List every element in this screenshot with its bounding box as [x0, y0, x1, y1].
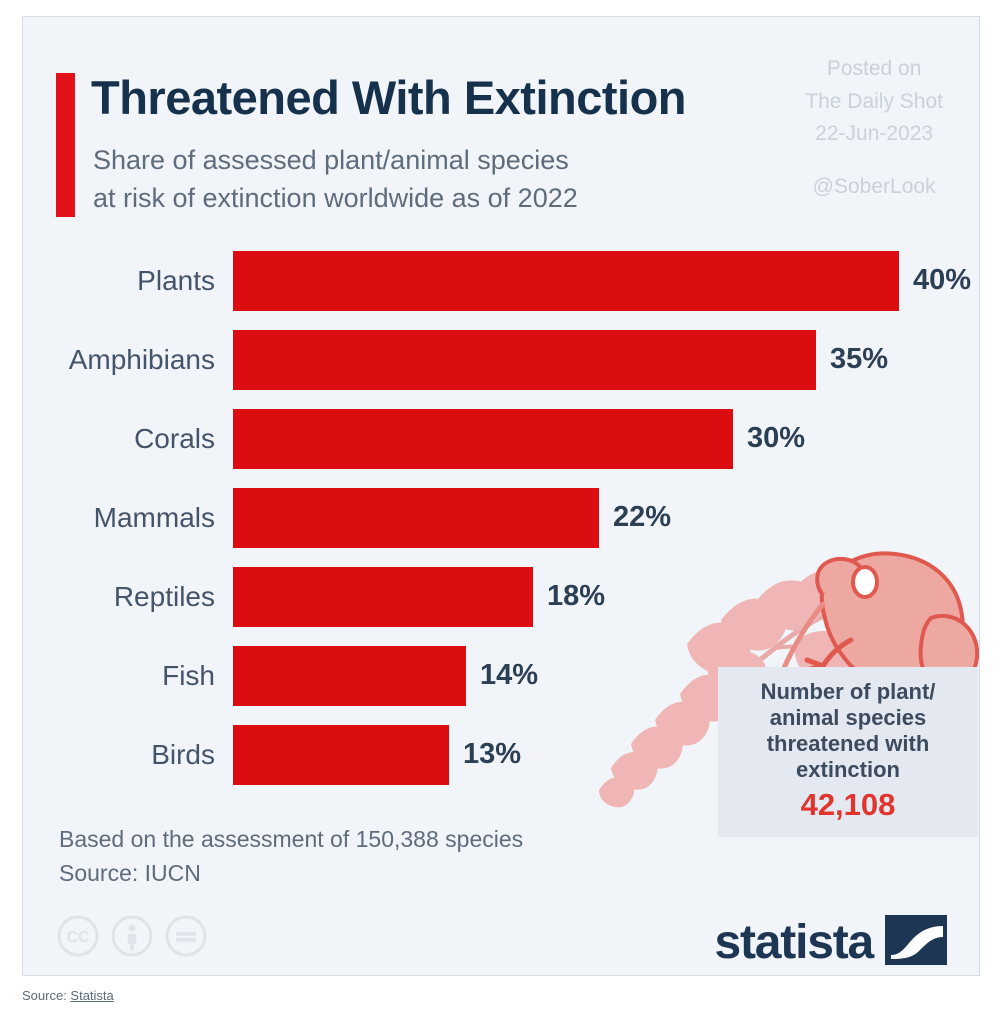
bar-value-plants: 40%	[913, 264, 971, 297]
statista-swoosh-icon	[885, 915, 947, 970]
bar-row: Mammals 22%	[23, 478, 980, 557]
bar-fill-plants	[233, 251, 899, 311]
bar-track: 22%	[233, 488, 671, 548]
chart-subtitle: Share of assessed plant/animal species a…	[93, 141, 793, 218]
bar-value-mammals: 22%	[613, 501, 671, 534]
bar-value-corals: 30%	[747, 422, 805, 455]
watermark-date: 22-Jun-2023	[805, 118, 943, 151]
bar-fill-birds	[233, 725, 449, 785]
source-caption: Source: Statista	[22, 988, 114, 1003]
bar-fill-fish	[233, 646, 466, 706]
callout-number: 42,108	[726, 787, 970, 823]
license-icons: CC	[57, 915, 207, 962]
bar-label-birds: Birds	[23, 739, 215, 771]
bar-fill-corals	[233, 409, 733, 469]
infographic-card: Threatened With Extinction Share of asse…	[22, 16, 980, 976]
page-title: Threatened With Extinction	[91, 73, 951, 122]
bar-value-birds: 13%	[463, 738, 521, 771]
bar-label-amphibians: Amphibians	[23, 344, 215, 376]
bar-fill-reptiles	[233, 567, 533, 627]
statista-wordmark: statista	[715, 919, 873, 967]
red-accent-bar	[56, 73, 75, 217]
subtitle-line-1: Share of assessed plant/animal species	[93, 141, 793, 179]
bar-label-mammals: Mammals	[23, 502, 215, 534]
bar-track: 14%	[233, 646, 538, 706]
bar-label-reptiles: Reptiles	[23, 581, 215, 613]
callout-line-2: animal species	[726, 705, 970, 731]
footnotes: Based on the assessment of 150,388 speci…	[59, 823, 523, 890]
bar-track: 35%	[233, 330, 888, 390]
bar-row: Reptiles 18%	[23, 557, 980, 636]
bar-fill-amphibians	[233, 330, 816, 390]
bar-track: 13%	[233, 725, 521, 785]
bar-track: 30%	[233, 409, 805, 469]
bar-fill-mammals	[233, 488, 599, 548]
bar-track: 18%	[233, 567, 605, 627]
bar-row: Plants 40%	[23, 241, 980, 320]
bar-label-fish: Fish	[23, 660, 215, 692]
callout-line-1: Number of plant/	[726, 679, 970, 705]
bar-label-corals: Corals	[23, 423, 215, 455]
footnote-basis: Based on the assessment of 150,388 speci…	[59, 823, 523, 857]
statista-logo: statista	[715, 915, 947, 970]
bar-label-plants: Plants	[23, 265, 215, 297]
footnote-source: Source: IUCN	[59, 857, 523, 891]
bar-row: Amphibians 35%	[23, 320, 980, 399]
bar-value-reptiles: 18%	[547, 580, 605, 613]
no-derivatives-icon[interactable]	[165, 915, 207, 962]
creative-commons-icon[interactable]: CC	[57, 915, 99, 962]
source-caption-link[interactable]: Statista	[70, 988, 113, 1003]
callout-line-3: threatened with	[726, 731, 970, 757]
callout-label: Number of plant/ animal species threaten…	[726, 679, 970, 783]
bar-value-fish: 14%	[480, 659, 538, 692]
svg-text:CC: CC	[66, 929, 90, 946]
bar-value-amphibians: 35%	[830, 343, 888, 376]
source-caption-prefix: Source:	[22, 988, 70, 1003]
bar-row: Corals 30%	[23, 399, 980, 478]
bar-track: 40%	[233, 251, 971, 311]
attribution-icon[interactable]	[111, 915, 153, 962]
subtitle-line-2: at risk of extinction worldwide as of 20…	[93, 179, 793, 217]
callout-box: Number of plant/ animal species threaten…	[718, 667, 978, 837]
callout-line-4: extinction	[726, 757, 970, 783]
watermark-handle: @SoberLook	[805, 171, 943, 204]
